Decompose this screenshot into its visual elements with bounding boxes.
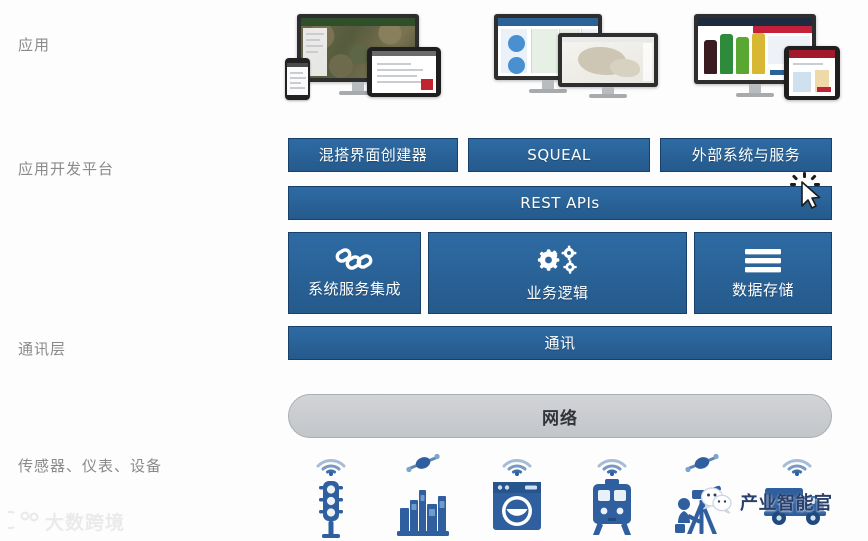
sensor-washing-machine[interactable] xyxy=(480,450,554,541)
box-label: 业务逻辑 xyxy=(520,284,594,303)
platform-box-squeal[interactable]: SQUEAL xyxy=(468,138,650,172)
sensor-traffic-light[interactable] xyxy=(294,450,368,541)
washing-machine-icon xyxy=(489,478,545,534)
wifi-signal-icon xyxy=(312,450,350,476)
widescreen-monitor xyxy=(558,33,658,87)
antenna-signal-icon xyxy=(401,450,445,476)
train-icon xyxy=(586,478,638,536)
dashu-logo-icon xyxy=(8,509,40,535)
platform-box-rest-apis[interactable]: REST APIs xyxy=(288,186,832,220)
screen-topbar xyxy=(789,50,835,58)
screen-topbar xyxy=(301,18,415,26)
tablet-device xyxy=(784,46,840,100)
watermark-right: 产业智能官 xyxy=(700,486,833,518)
tablet-device xyxy=(367,47,441,97)
tier-label-sensors: 传感器、仪表、设备 xyxy=(18,455,162,476)
monitor-stand-base xyxy=(589,94,627,98)
box-label: SQUEAL xyxy=(521,146,596,165)
monitor-stand-neck xyxy=(749,84,761,93)
tier-label-communication: 通讯层 xyxy=(18,338,66,359)
screen-red-header xyxy=(753,26,812,33)
box-label: 数据存储 xyxy=(726,281,800,300)
box-label: 系统服务集成 xyxy=(302,280,407,299)
database-stack-icon xyxy=(742,247,784,275)
tablet-screen xyxy=(789,50,835,96)
platform-box-external-systems[interactable]: 外部系统与服务 xyxy=(660,138,832,172)
smartphone-device xyxy=(285,58,310,100)
tablet-screen xyxy=(372,51,436,93)
phone-screen xyxy=(287,63,308,95)
monitor-stand-base xyxy=(529,89,567,93)
platform-box-mashup-builder[interactable]: 混搭界面创建器 xyxy=(288,138,458,172)
dashboard-kpi-column xyxy=(501,29,527,73)
monitor-stand-base xyxy=(736,93,774,97)
chain-link-icon xyxy=(333,248,377,274)
watermark-right-text: 产业智能官 xyxy=(740,489,833,515)
communication-bar[interactable]: 通讯 xyxy=(288,326,832,360)
sensor-factory[interactable] xyxy=(386,450,460,541)
application-group-map-dashboard xyxy=(283,2,463,107)
box-label: 混搭界面创建器 xyxy=(313,146,434,165)
platform-box-business-logic[interactable]: 业务逻辑 xyxy=(428,232,687,314)
factory-icon xyxy=(394,478,452,536)
dashboard-table-column xyxy=(531,29,558,73)
traffic-light-icon xyxy=(312,478,350,538)
tier-label-application: 应用 xyxy=(18,34,50,55)
wifi-signal-icon xyxy=(498,450,536,476)
map-side-panel xyxy=(643,43,652,81)
platform-box-system-service-integration[interactable]: 系统服务集成 xyxy=(288,232,421,314)
box-label: REST APIs xyxy=(514,194,605,213)
box-label: 外部系统与服务 xyxy=(686,146,807,165)
wechat-logo-icon xyxy=(700,486,734,518)
tablet-accent-block xyxy=(421,79,433,90)
applications-row xyxy=(283,2,863,110)
tier-label-app-dev-platform: 应用开发平台 xyxy=(18,158,114,179)
application-group-status-gauges xyxy=(688,2,863,107)
wifi-signal-icon xyxy=(778,450,816,476)
wifi-signal-icon xyxy=(593,450,631,476)
gears-icon xyxy=(533,244,583,278)
watermark-left-text: 大数跨境 xyxy=(45,508,125,535)
application-group-analytics-map xyxy=(488,2,663,107)
monitor-stand-neck xyxy=(542,80,554,89)
screen-topbar xyxy=(498,18,598,26)
platform-box-data-storage[interactable]: 数据存储 xyxy=(694,232,832,314)
network-label: 网络 xyxy=(542,404,578,429)
antenna-signal-icon xyxy=(680,450,724,476)
box-label: 通讯 xyxy=(538,334,581,353)
monitor-screen xyxy=(562,37,654,83)
monitor-stand-neck xyxy=(352,82,364,91)
watermark-left: 大数跨境 xyxy=(8,508,125,535)
sensor-train[interactable] xyxy=(575,450,649,541)
network-bar[interactable]: 网络 xyxy=(288,394,832,438)
